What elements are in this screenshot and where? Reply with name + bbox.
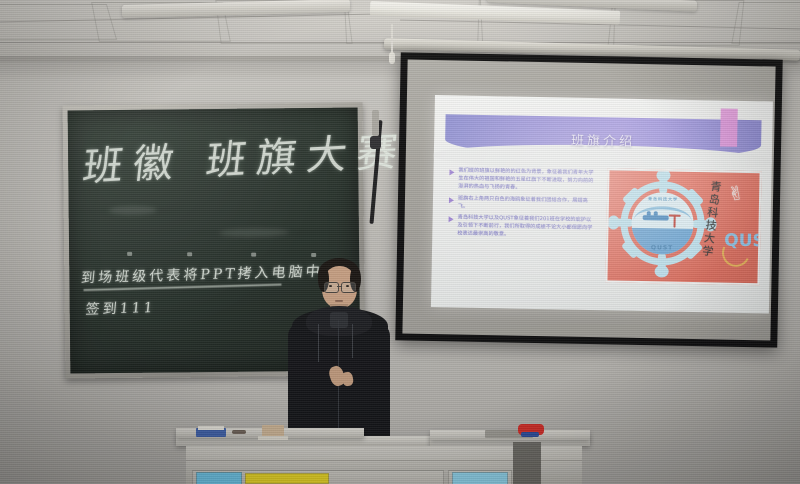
bag-strap[interactable] — [521, 432, 539, 437]
ceiling-tile — [731, 2, 800, 44]
eye-right — [346, 285, 349, 287]
glasses-left-lens — [324, 282, 339, 293]
ship-mast — [647, 211, 651, 216]
eye-left — [329, 285, 332, 287]
bullet-triangle-icon — [449, 169, 454, 175]
dove-icon: ✌ — [726, 183, 745, 205]
blackboard-note-line-2: 签到111 — [85, 297, 157, 319]
wheel-outer-text: 青岛科技大学 — [632, 196, 694, 203]
inner-shirt — [330, 312, 348, 328]
list-item: 青岛科技大学以及QUST象征着我们201班在学校的庇护以及引领下不断前行，我们所… — [448, 215, 593, 241]
hood-drawstring-left — [318, 324, 319, 362]
bullet-triangle-icon — [449, 197, 454, 203]
wheel-inner-disc: 青岛科技大学 QUST — [631, 192, 694, 255]
cable-clamp — [370, 136, 381, 149]
board-clip — [311, 253, 316, 257]
screen-surface: 班旗介绍 我们班的班旗以鲜艳的的红色为背景，象征着我们青年大学生在伟大的祖国和鲜… — [402, 59, 775, 340]
glasses-right-lens — [341, 282, 356, 293]
small-object[interactable] — [232, 430, 246, 434]
class-flag-image: 青岛科技大学 QUST 青岛科技大学 ✌ QUST — [605, 168, 761, 285]
wall-bracket — [372, 110, 379, 136]
slide-bullet-list: 我们班的班旗以鲜艳的的红色为背景，象征着我们青年大学生在伟大的祖国和鲜艳的五星红… — [448, 167, 594, 245]
slide-accent-bar — [720, 109, 738, 147]
hood-drawstring-right — [352, 324, 353, 358]
ship-mast — [654, 211, 658, 216]
projection-screen: 班旗介绍 我们班的班旗以鲜艳的的红色为背景，象征着我们青年大学生在伟大的祖国和鲜… — [395, 52, 782, 347]
wheel-spoke-knob — [656, 169, 670, 181]
anchor-cross — [669, 215, 681, 217]
list-item: 我们班的班旗以鲜艳的的红色为背景，象征着我们青年大学生在伟大的祖国和鲜艳的五星红… — [449, 167, 594, 193]
slide-title-band: 班旗介绍 — [445, 114, 762, 161]
board-clip — [187, 252, 192, 256]
wheel-bottom-text: QUST — [631, 244, 693, 252]
presentation-slide: 班旗介绍 我们班的班旗以鲜艳的的红色为背景，象征着我们青年大学生在伟大的祖国和鲜… — [431, 95, 773, 313]
classroom-photo: 班旗介绍 我们班的班旗以鲜艳的的红色为背景，象征着我们青年大学生在伟大的祖国和鲜… — [0, 0, 800, 484]
board-clip — [127, 252, 132, 256]
glasses-bridge — [337, 286, 341, 287]
box-base[interactable] — [258, 436, 288, 440]
bullet-text: 我们班的班旗以鲜艳的的红色为背景，象征着我们青年大学生在伟大的祖国和鲜艳的五星红… — [458, 167, 594, 193]
wheel-spoke-knob — [655, 265, 669, 277]
strip-cyan-right[interactable] — [452, 472, 508, 484]
qust-logo-text: QUST — [724, 231, 762, 252]
list-item: 班旗右上角两只白色的海鸥象征着我们团结合作，展翅高飞。 — [449, 195, 594, 214]
bullet-text: 青岛科技大学以及QUST象征着我们201班在学校的庇护以及引领下不断前行，我们所… — [457, 215, 593, 241]
podium-side-recess — [513, 442, 541, 484]
bullet-triangle-icon — [449, 217, 454, 223]
paper-sheet[interactable] — [198, 426, 224, 430]
screen-cord-knob[interactable] — [389, 52, 395, 64]
wheel-spoke-knob — [607, 215, 619, 229]
bullet-text: 班旗右上角两只白色的海鸥象征着我们团结合作，展翅高飞。 — [458, 195, 594, 213]
mouth — [335, 300, 343, 302]
strip-yellow[interactable] — [245, 473, 329, 484]
strip-cyan-left[interactable] — [196, 472, 242, 484]
board-clip — [251, 253, 256, 257]
